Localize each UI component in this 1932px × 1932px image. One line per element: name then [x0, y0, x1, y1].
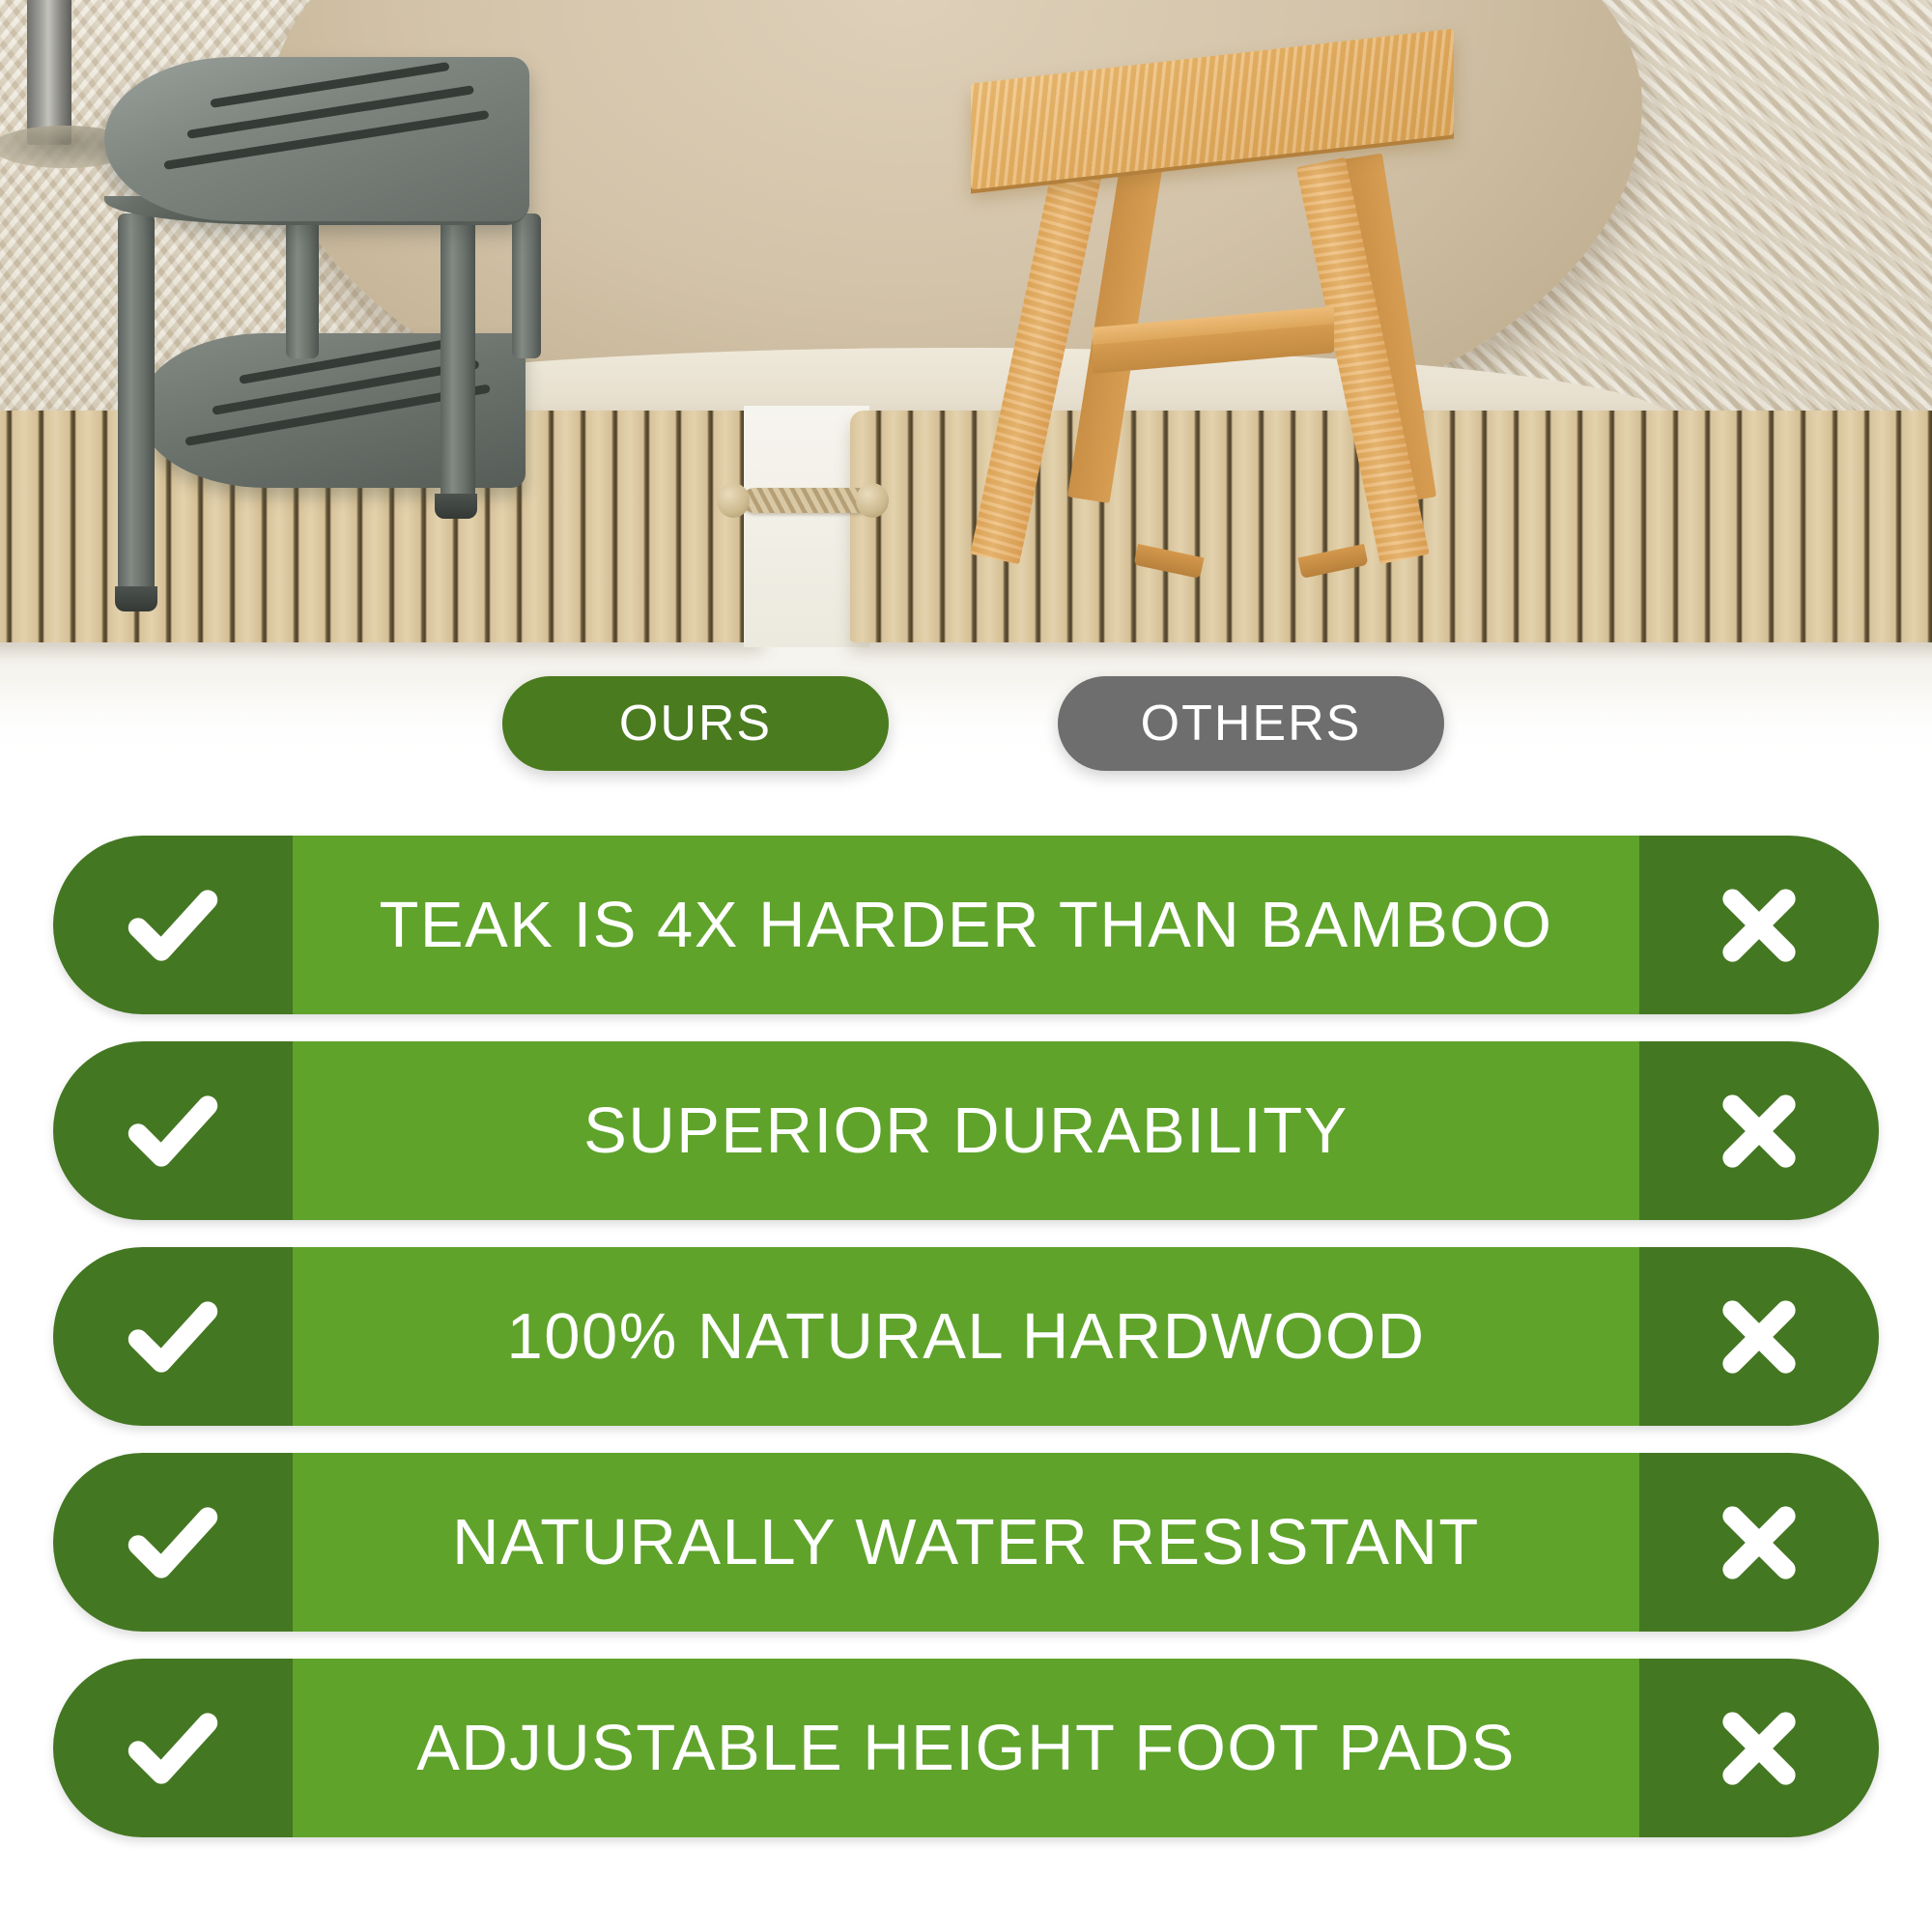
teak-seat-slat — [163, 110, 489, 170]
hero-product-photo — [0, 0, 1932, 763]
feature-label-text: NATURALLY WATER RESISTANT — [452, 1505, 1480, 1579]
feature-label-cell: ADJUSTABLE HEIGHT FOOT PADS — [293, 1659, 1639, 1837]
feature-label-cell: NATURALLY WATER RESISTANT — [293, 1453, 1639, 1632]
feature-row: SUPERIOR DURABILITY — [53, 1041, 1879, 1220]
teak-corner-stool — [97, 43, 541, 594]
feature-row: TEAK IS 4X HARDER THAN BAMBOO — [53, 836, 1879, 1014]
ours-label-pill: OURS — [502, 676, 889, 771]
feature-label-cell: TEAK IS 4X HARDER THAN BAMBOO — [293, 836, 1639, 1014]
feature-comparison-list: TEAK IS 4X HARDER THAN BAMBOO SUPERIOR D… — [0, 836, 1932, 1864]
ours-result-cell — [53, 1041, 293, 1220]
others-result-cell — [1639, 836, 1879, 1014]
bamboo-stool-foot — [1297, 544, 1368, 579]
check-icon — [115, 1485, 231, 1601]
check-icon — [115, 1279, 231, 1395]
others-label-text: OTHERS — [1141, 695, 1362, 753]
ours-result-cell — [53, 1247, 293, 1426]
cross-icon — [1708, 874, 1810, 977]
others-result-cell — [1639, 1041, 1879, 1220]
check-icon — [115, 1073, 231, 1189]
check-icon — [115, 867, 231, 983]
bamboo-stool-foot — [1133, 544, 1204, 579]
feature-label-text: ADJUSTABLE HEIGHT FOOT PADS — [416, 1711, 1516, 1785]
cross-icon — [1708, 1492, 1810, 1594]
feature-row: NATURALLY WATER RESISTANT — [53, 1453, 1879, 1632]
ours-result-cell — [53, 836, 293, 1014]
bath-mat-rope — [742, 488, 871, 513]
teak-stool-leg — [512, 213, 541, 358]
teak-seat-slat — [186, 85, 474, 139]
shower-fixture-column — [27, 0, 71, 145]
teak-stool-seat — [104, 57, 529, 221]
others-label-pill: OTHERS — [1058, 676, 1444, 771]
ours-label-text: OURS — [619, 695, 772, 753]
bath-mat-rope-bead — [717, 483, 750, 518]
teak-stool-foot-pad — [435, 494, 477, 519]
others-result-cell — [1639, 1247, 1879, 1426]
bamboo-stool-leg — [970, 157, 1103, 565]
feature-label-cell: SUPERIOR DURABILITY — [293, 1041, 1639, 1220]
teak-stool-leg — [286, 213, 319, 358]
cross-icon — [1708, 1286, 1810, 1388]
bamboo-stool — [961, 48, 1463, 589]
teak-shelf-slat — [212, 359, 479, 414]
teak-stool-leg — [118, 213, 155, 596]
teak-stool-leg — [440, 213, 475, 503]
teak-stool-foot-pad — [115, 586, 157, 611]
others-result-cell — [1639, 1453, 1879, 1632]
check-icon — [115, 1690, 231, 1806]
product-comparison-infographic: OURS OTHERS TEAK IS 4X HARDER THAN BAMBO… — [0, 0, 1932, 1932]
ours-result-cell — [53, 1659, 293, 1837]
feature-label-cell: 100% NATURAL HARDWOOD — [293, 1247, 1639, 1426]
feature-row: 100% NATURAL HARDWOOD — [53, 1247, 1879, 1426]
bath-mat-rope-bead — [856, 483, 889, 518]
cross-icon — [1708, 1080, 1810, 1182]
cross-icon — [1708, 1697, 1810, 1800]
feature-row: ADJUSTABLE HEIGHT FOOT PADS — [53, 1659, 1879, 1837]
feature-label-text: SUPERIOR DURABILITY — [583, 1094, 1349, 1168]
feature-label-text: TEAK IS 4X HARDER THAN BAMBOO — [379, 888, 1552, 962]
ours-result-cell — [53, 1453, 293, 1632]
others-result-cell — [1639, 1659, 1879, 1837]
feature-label-text: 100% NATURAL HARDWOOD — [506, 1299, 1425, 1374]
comparison-header-pills: OURS OTHERS — [0, 676, 1932, 792]
